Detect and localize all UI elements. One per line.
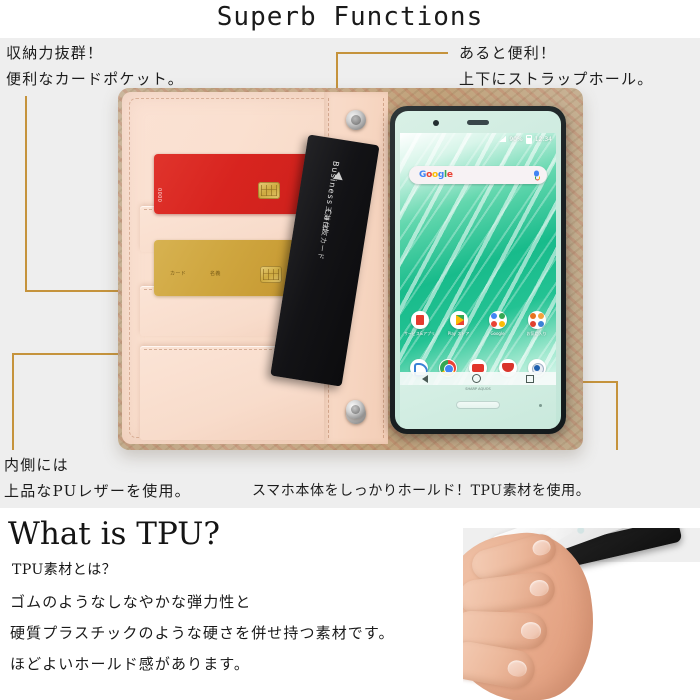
tpu-body-line2: 硬質プラスチックのような硬さを併せ持つ素材です。 [10, 618, 395, 649]
app-shortcut[interactable]: サービス&アプリ [410, 311, 430, 337]
card-gold-chip [260, 266, 282, 283]
back-icon[interactable] [422, 375, 428, 383]
fingernail [507, 659, 528, 678]
front-camera-icon [433, 120, 439, 126]
annotation-pu-leather-line1: 内側には [4, 452, 191, 478]
tpu-flex-photo [463, 528, 700, 700]
product-photo-wallet-case: 0000 CARD カード 名義 [118, 88, 583, 450]
annotation-card-pocket-line1: 収納力抜群！ [6, 40, 184, 66]
phone-front-face: 90% 12:34 Google [395, 111, 561, 429]
smartphone: 90% 12:34 Google [390, 106, 566, 434]
google-logo: Google [419, 170, 453, 180]
leader-line-strap-hole-horizontal [336, 52, 448, 54]
app-label: Google [490, 331, 504, 336]
app-label: サービス&アプリ [404, 331, 435, 337]
signal-icon [499, 136, 506, 142]
tpu-body-line3: ほどよいホールド感があります。 [10, 649, 395, 680]
business-card-sub-label: 三井住友カード [315, 205, 333, 261]
battery-icon [526, 135, 532, 144]
card-gold-label-left: カード [170, 270, 186, 277]
app-shortcut[interactable]: Play ストア [449, 311, 469, 337]
app-folder[interactable]: お気に入り [527, 311, 547, 337]
phone-screen[interactable]: 90% 12:34 Google [400, 133, 556, 385]
tpu-body: ゴムのようなしなやかな弾力性と 硬質プラスチックのような硬さを併せ持つ素材です。… [10, 587, 395, 680]
phone-brand-text: SHARP AQUOS [465, 387, 491, 391]
app-row-primary: サービス&アプリ Play ストア [400, 311, 556, 337]
microphone-icon[interactable] [534, 171, 539, 180]
card-red-chip [258, 182, 280, 199]
leader-line-tpu-vertical [616, 381, 618, 450]
app-icon-google-folder[interactable] [489, 311, 507, 329]
leader-line-card-pocket-vertical [25, 96, 27, 292]
annotation-tpu-hold: スマホ本体をしっかりホールド！TPU素材を使用。 [252, 478, 590, 504]
battery-percent: 90% [509, 136, 522, 143]
annotation-pu-leather-line2: 上品なPUレザーを使用。 [4, 478, 191, 504]
google-search-bar[interactable]: Google [409, 166, 547, 184]
google-logo-e: e [447, 170, 453, 180]
status-bar: 90% 12:34 [400, 133, 556, 145]
phone-chin: SHARP AQUOS [400, 385, 556, 429]
annotation-pu-leather: 内側には 上品なPUレザーを使用。 [4, 452, 191, 504]
status-time: 12:34 [535, 136, 552, 143]
earpiece-icon [467, 120, 489, 125]
app-label: Play ストア [448, 331, 470, 337]
spine-seam-right [383, 98, 384, 438]
fingernail [529, 579, 550, 597]
strap-hole-grommet-top [346, 110, 366, 130]
annotation-strap-hole: あると便利！ 上下にストラップホール。 [459, 40, 653, 92]
page-title: Superb Functions [0, 2, 700, 32]
app-folder[interactable]: Google [488, 311, 508, 337]
card-gold-label-mid: 名義 [210, 270, 221, 277]
tpu-heading: What is TPU? [8, 516, 220, 552]
app-label: お気に入り [527, 331, 547, 337]
leader-line-pu-leather-vertical [12, 353, 14, 450]
snap-button [346, 400, 365, 419]
product-infographic: Superb Functions 収納力抜群！ 便利なカードポケット。 あると便… [0, 0, 700, 700]
app-icon-play-store[interactable] [450, 311, 468, 329]
app-icon-service[interactable] [411, 311, 429, 329]
home-button[interactable] [456, 401, 500, 409]
sensor-dot-icon [539, 404, 542, 407]
home-icon[interactable] [472, 374, 481, 383]
tpu-body-line1: ゴムのようなしなやかな弾力性と [10, 587, 395, 618]
annotation-card-pocket: 収納力抜群！ 便利なカードポケット。 [6, 40, 184, 92]
app-icon-favorites-folder[interactable] [528, 311, 546, 329]
recents-icon[interactable] [526, 375, 534, 383]
annotation-strap-hole-line1: あると便利！ [459, 40, 653, 66]
annotation-tpu-hold-line1: スマホ本体をしっかりホールド！TPU素材を使用。 [252, 478, 590, 504]
navigation-bar [400, 372, 556, 385]
fingernail [521, 622, 542, 640]
card-red-number: 0000 [156, 188, 162, 202]
superb-functions-section: Superb Functions 収納力抜群！ 便利なカードポケット。 あると便… [0, 0, 700, 508]
tpu-subheading: TPU素材とは？ [12, 559, 116, 579]
fingernail [531, 538, 552, 557]
